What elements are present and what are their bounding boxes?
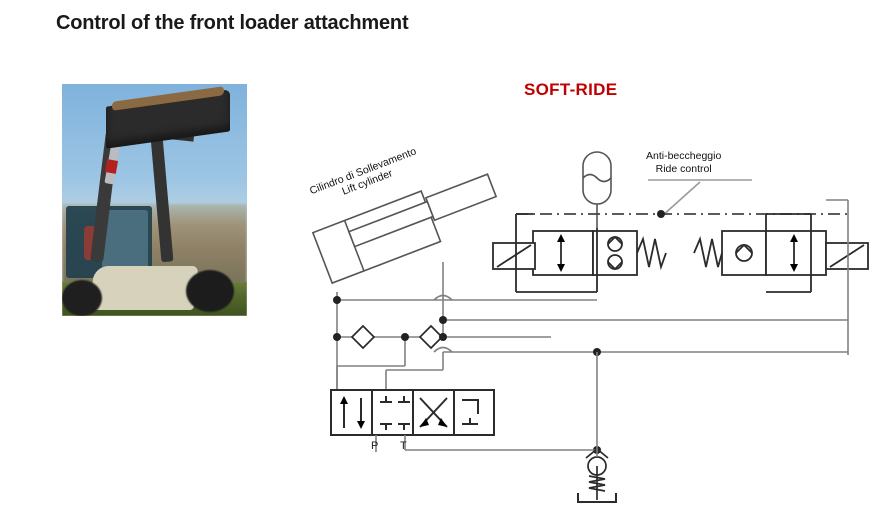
pilot-check-valve-left — [352, 326, 374, 348]
hydraulic-schematic — [0, 0, 892, 520]
accumulator-symbol — [583, 152, 611, 228]
junction-dot — [401, 333, 409, 341]
ride-control-label-it: Anti-beccheggio — [646, 150, 721, 163]
ride-control-leader — [662, 182, 700, 216]
ride-control-valve-left — [493, 214, 666, 292]
ride-control-label-en: Ride control — [646, 163, 721, 176]
junction-dot — [439, 333, 447, 341]
junction-dot — [439, 316, 447, 324]
pilot-check-valve-right — [420, 326, 442, 348]
junction-dot — [333, 333, 341, 341]
directional-control-valve — [331, 390, 494, 435]
port-label-t: T — [400, 440, 407, 452]
ride-control-label: Anti-beccheggio Ride control — [646, 150, 721, 175]
junction-dot — [333, 296, 341, 304]
pilot-junction-dot — [657, 210, 665, 218]
port-label-p: P — [371, 440, 378, 452]
ride-control-valve-right — [694, 214, 868, 292]
